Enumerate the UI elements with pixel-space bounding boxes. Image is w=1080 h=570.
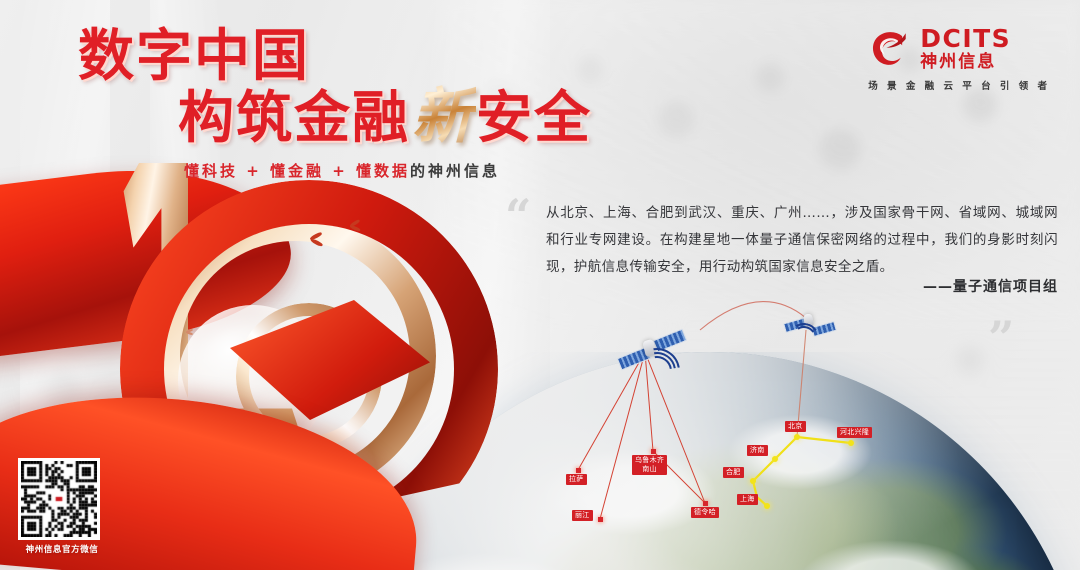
subtitle-dark-part: 的神州信息 bbox=[410, 162, 500, 180]
map-label: 德令哈 bbox=[691, 507, 719, 518]
quote-attribution: ——量子通信项目组 bbox=[923, 276, 1058, 296]
map-label: 乌鲁木齐 南山 bbox=[632, 455, 667, 475]
headline-gold-character: 新 bbox=[410, 82, 476, 152]
qr-caption: 神州信息官方微信 bbox=[18, 543, 106, 555]
map-label: 济南 bbox=[747, 445, 768, 456]
map-label: 北京 bbox=[785, 421, 806, 432]
map-label: 拉萨 bbox=[566, 474, 587, 485]
poster-banner: 拉萨 乌鲁木齐 南山 丽江 德令哈 北京 河北兴隆 济南 合肥 上海 bbox=[0, 0, 1080, 570]
map-label: 河北兴隆 bbox=[837, 427, 872, 438]
marker-dot bbox=[703, 501, 708, 506]
headline-line-2: 构筑金融新安全 bbox=[178, 86, 592, 150]
marker-dot bbox=[848, 440, 854, 446]
marker-dot bbox=[772, 456, 778, 462]
marker-dot bbox=[651, 449, 656, 454]
map-label: 合肥 bbox=[723, 467, 744, 478]
qr-code-icon[interactable] bbox=[18, 458, 100, 540]
map-label: 上海 bbox=[737, 494, 758, 505]
marker-dot bbox=[794, 434, 800, 440]
headline-line-1: 数字中国 bbox=[78, 26, 310, 88]
headline-line-2-part-b: 安全 bbox=[476, 86, 592, 151]
logo-name-cn: 神州信息 bbox=[920, 52, 1011, 72]
subtitle-red-part: 懂科技 + 懂金融 + 懂数据 bbox=[184, 162, 410, 180]
quote-text: 从北京、上海、合肥到武汉、重庆、广州……，涉及国家骨干网、省域网、城域网和行业专… bbox=[546, 200, 1058, 281]
marker-dot bbox=[576, 468, 581, 473]
brand-logo[interactable]: DCITS 神州信息 场 景 金 融 云 平 台 引 领 者 bbox=[868, 26, 1050, 92]
marker-dot bbox=[598, 517, 603, 522]
marker-dot bbox=[750, 478, 756, 484]
headline-line-2-part-a: 构筑金融 bbox=[178, 86, 410, 151]
headline-subtitle: 懂科技 + 懂金融 + 懂数据的神州信息 bbox=[184, 160, 500, 182]
quote-close-mark: ” bbox=[988, 318, 1014, 358]
quote-open-mark: “ bbox=[505, 196, 531, 236]
logo-tagline: 场 景 金 融 云 平 台 引 领 者 bbox=[868, 78, 1050, 92]
wechat-qr-block[interactable]: 神州信息官方微信 bbox=[18, 458, 106, 555]
dcits-swirl-logo-icon bbox=[868, 29, 912, 69]
marker-dot bbox=[764, 503, 770, 509]
map-label: 丽江 bbox=[572, 510, 593, 521]
logo-name-en: DCITS bbox=[920, 26, 1011, 51]
